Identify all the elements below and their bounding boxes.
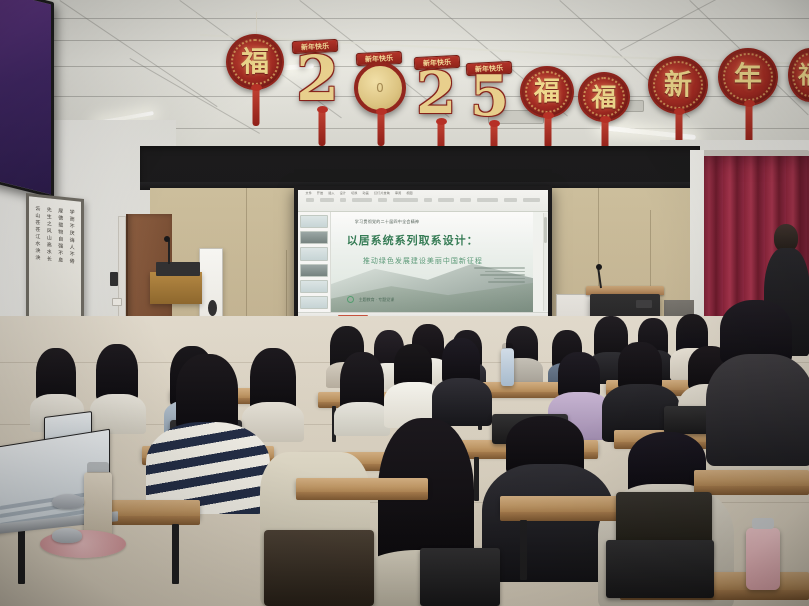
slide-thumbnail[interactable] bbox=[300, 215, 328, 228]
decoration-char: 福 bbox=[241, 48, 269, 76]
slide-side-notes bbox=[468, 267, 525, 283]
slide-scrollbar[interactable] bbox=[543, 213, 547, 311]
slide-thumbnail[interactable] bbox=[300, 264, 328, 277]
ribbon-tool-icon[interactable] bbox=[306, 198, 314, 202]
slide-logo-row: 主题教育 · 专题党课 bbox=[347, 296, 395, 303]
ribbon-tool-icon[interactable] bbox=[460, 198, 471, 202]
student bbox=[96, 344, 138, 424]
ribbon-tab[interactable]: 插入 bbox=[328, 191, 334, 195]
decoration-char: 福 bbox=[534, 79, 560, 105]
decoration-digit-2b: 2 bbox=[416, 66, 466, 124]
decoration-char: 2 bbox=[416, 59, 455, 127]
projector-screen-frame: 文件 开始 插入 设计 切换 动画 幻灯片放映 审阅 视图 bbox=[294, 186, 552, 324]
classroom-photo: 福 新年快乐 2 新年快乐 0 新年快乐 2 新年快乐 5 福 福 bbox=[0, 0, 809, 606]
ribbon-tool-icon[interactable] bbox=[320, 198, 334, 202]
ribbon-tab[interactable]: 审阅 bbox=[395, 191, 401, 195]
decoration-fu-right: 福 bbox=[788, 48, 809, 104]
ribbon-tool-icon[interactable] bbox=[340, 198, 346, 202]
microphone-icon bbox=[164, 236, 170, 242]
decoration-fu-mid2: 福 bbox=[578, 72, 632, 124]
tassel bbox=[746, 104, 753, 144]
ribbon-tool-icon[interactable] bbox=[352, 198, 371, 202]
student bbox=[36, 348, 76, 424]
decoration-char: 新 bbox=[664, 71, 692, 99]
tassel bbox=[319, 110, 326, 146]
powerpoint-ribbon[interactable]: 文件 开始 插入 设计 切换 动画 幻灯片放映 审阅 视图 bbox=[298, 190, 548, 212]
hanger bbox=[256, 12, 257, 36]
student bbox=[440, 338, 482, 418]
ribbon-tab[interactable]: 动画 bbox=[363, 191, 369, 195]
ribbon-tool-row[interactable] bbox=[306, 198, 541, 202]
slide-title: 以居系统系列取系设计： bbox=[347, 232, 525, 248]
ribbon-tab[interactable]: 幻灯片放映 bbox=[374, 191, 390, 195]
ribbon-tool-icon[interactable] bbox=[438, 198, 454, 202]
tassel bbox=[545, 116, 552, 148]
calligraphy-artwork: 云山 苍苍 江水 泱泱 先生 之风 山高 水长 厚德 载物 自强 不息 学而 不… bbox=[26, 193, 84, 335]
ribbon-tab[interactable]: 文件 bbox=[306, 191, 312, 195]
chair-front bbox=[420, 548, 500, 606]
backpack bbox=[264, 530, 374, 606]
student-far-right-front bbox=[712, 300, 808, 460]
decoration-digit-5: 5 bbox=[470, 70, 518, 126]
pink-water-bottle bbox=[746, 528, 780, 590]
side-cabinet bbox=[150, 272, 202, 304]
decoration-digit-2a: 2 bbox=[296, 50, 348, 112]
ribbon-tab[interactable]: 视图 bbox=[406, 191, 412, 195]
wall-display-screen[interactable] bbox=[0, 0, 54, 198]
slide-eyebrow-text: 学习贯彻党的二十届四中全会精神 bbox=[355, 219, 420, 225]
decoration-char: 福 bbox=[591, 85, 616, 110]
logo-circle-icon bbox=[347, 296, 354, 303]
computer-mouse[interactable] bbox=[52, 528, 82, 543]
decoration-char: 2 bbox=[296, 42, 338, 115]
slide-subtitle: 推动绿色发展建设美丽中国新征程 bbox=[363, 256, 517, 266]
wall-control-panel[interactable] bbox=[110, 272, 118, 286]
thermos-lightblue bbox=[501, 348, 514, 386]
decoration-fu-left: 福 bbox=[226, 34, 286, 92]
ribbon-tool-icon[interactable] bbox=[504, 198, 517, 202]
slide-thumbnail[interactable] bbox=[300, 247, 328, 260]
slide-canvas[interactable]: 学习贯彻党的二十届四中全会精神 以居系统系列取系设计： 推动绿色发展建设美丽中国… bbox=[331, 212, 534, 312]
tassel bbox=[253, 88, 260, 126]
ribbon-tool-icon[interactable] bbox=[393, 198, 417, 202]
av-equipment-box bbox=[156, 262, 200, 276]
scrollbar-thumb[interactable] bbox=[544, 217, 547, 242]
computer-mouse[interactable] bbox=[52, 494, 84, 509]
decoration-xin: 新 bbox=[648, 56, 710, 116]
light-switch[interactable] bbox=[112, 298, 122, 306]
tassel bbox=[378, 112, 385, 146]
projector-screen[interactable]: 文件 开始 插入 设计 切换 动画 幻灯片放映 审阅 视图 bbox=[298, 190, 548, 320]
decoration-digit-0: 0 bbox=[354, 62, 408, 118]
slide-thumbnail[interactable] bbox=[300, 296, 328, 309]
slide-logo-text: 主题教育 · 专题党课 bbox=[359, 297, 395, 303]
microphone-stand bbox=[168, 240, 170, 264]
decoration-nian: 年 bbox=[718, 48, 780, 108]
student bbox=[392, 344, 434, 420]
speaker-box bbox=[208, 300, 217, 316]
ribbon-tool-icon[interactable] bbox=[424, 198, 432, 202]
slide-thumbnail[interactable] bbox=[300, 280, 328, 293]
chair-front bbox=[606, 540, 714, 598]
ribbon-tab-strip[interactable]: 文件 开始 插入 设计 切换 动画 幻灯片放映 审阅 视图 bbox=[306, 191, 413, 195]
slide-thumbnail[interactable] bbox=[300, 231, 328, 244]
student bbox=[340, 352, 384, 424]
decoration-char: 0 bbox=[376, 81, 384, 95]
ribbon-tool-icon[interactable] bbox=[477, 198, 498, 202]
ribbon-tool-icon[interactable] bbox=[378, 198, 388, 202]
ribbon-tab[interactable]: 开始 bbox=[317, 191, 323, 195]
decoration-char: 5 bbox=[470, 63, 508, 129]
decoration-char: 年 bbox=[734, 63, 762, 91]
decoration-fu-mid1: 福 bbox=[520, 66, 576, 120]
slide-thumbnail-panel[interactable] bbox=[298, 212, 331, 312]
podium-control-panel[interactable] bbox=[636, 300, 652, 308]
microphone-icon bbox=[596, 264, 602, 270]
student bbox=[612, 342, 668, 434]
ribbon-tab[interactable]: 设计 bbox=[340, 191, 346, 195]
decoration-char: 福 bbox=[798, 63, 809, 87]
ceiling-soffit bbox=[140, 146, 700, 186]
ribbon-tab[interactable]: 切换 bbox=[351, 191, 357, 195]
ribbon-tool-icon[interactable] bbox=[523, 198, 541, 202]
